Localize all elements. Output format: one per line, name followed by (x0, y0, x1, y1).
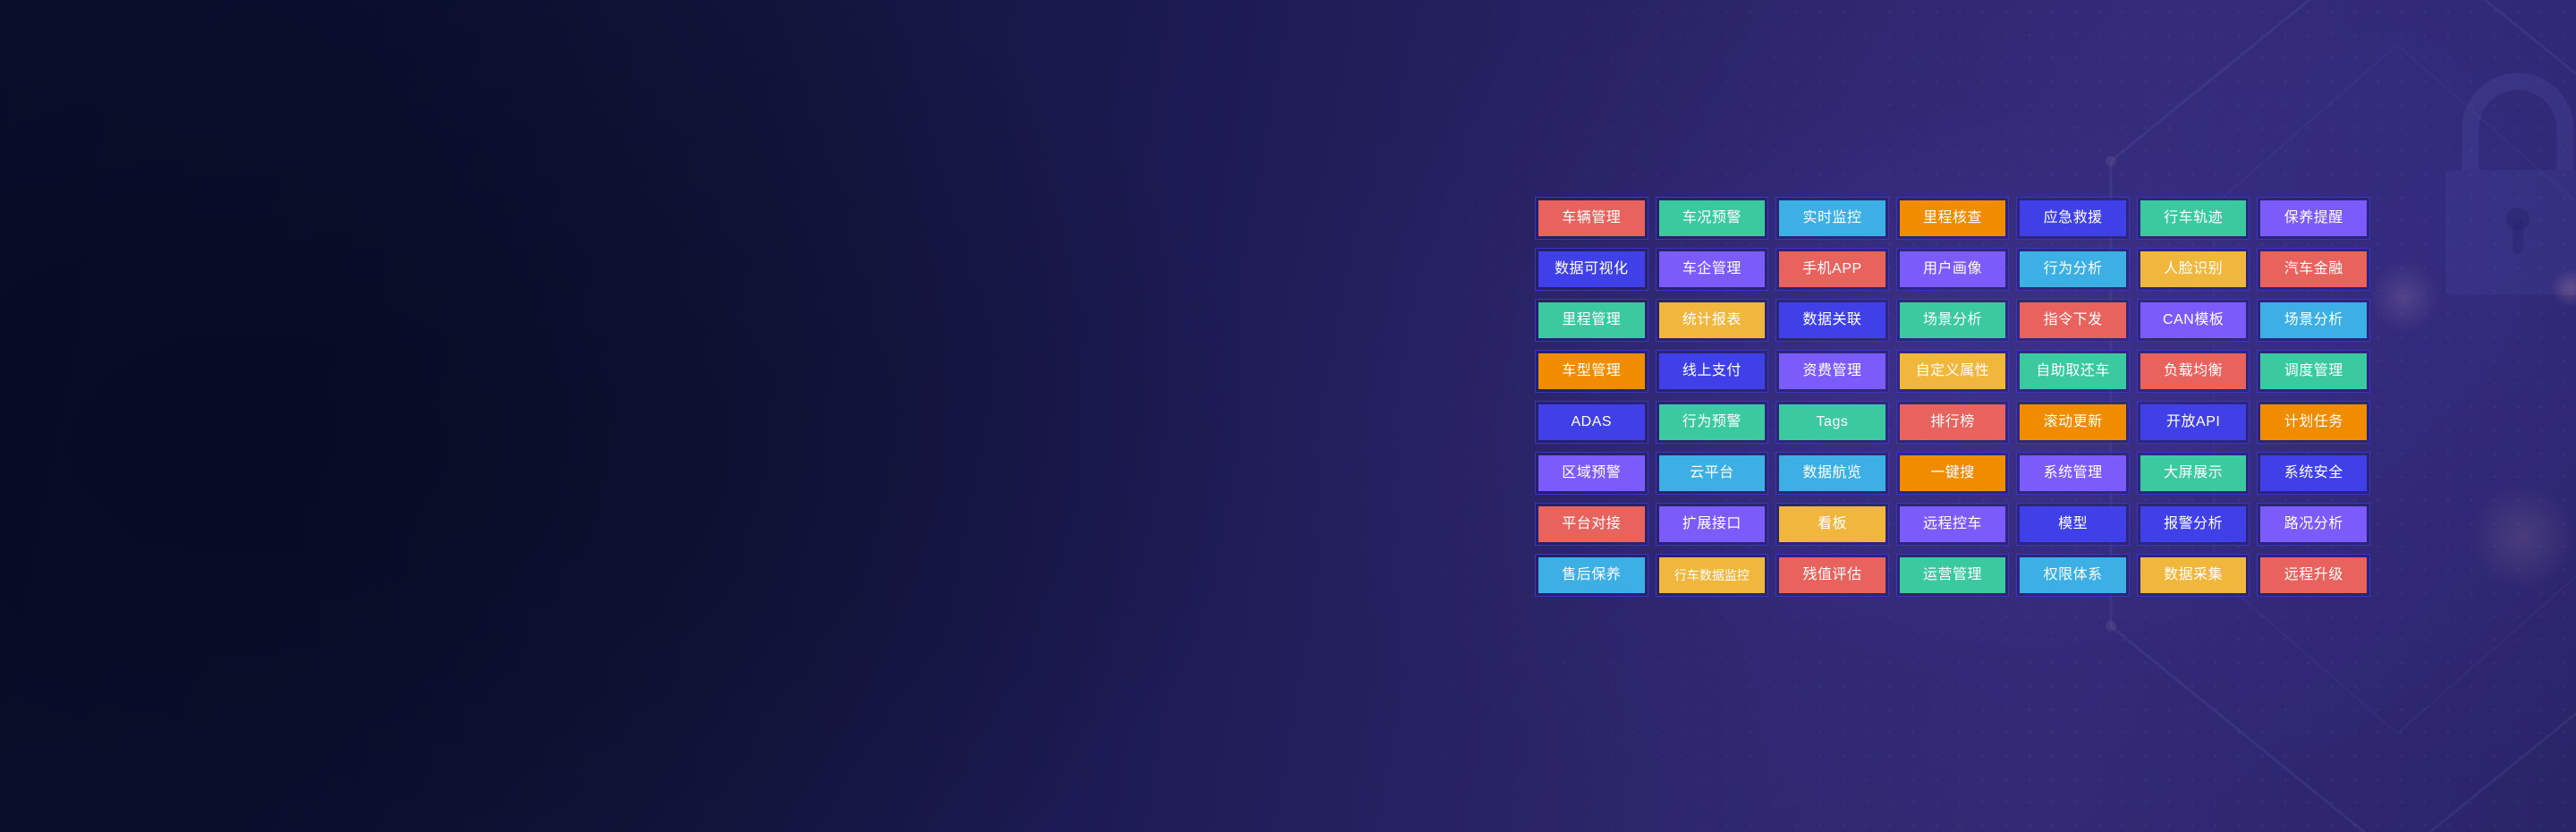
background-glow-dot (2368, 261, 2440, 333)
feature-tile[interactable]: 运营管理 (1900, 557, 2006, 593)
tile-cell[interactable]: 开放API (2137, 401, 2250, 444)
feature-tile[interactable]: 系统管理 (2020, 455, 2126, 491)
tile-row: 数据可视化车企管理手机APP用户画像行为分析人脸识别汽车金融 (1535, 248, 2370, 291)
tile-cell[interactable]: 调度管理 (2257, 350, 2370, 393)
feature-tile[interactable]: 实时监控 (1779, 200, 1885, 236)
feature-tile[interactable]: 车企管理 (1659, 251, 1766, 287)
feature-tile[interactable]: 车辆管理 (1538, 200, 1645, 236)
feature-tile[interactable]: 开放API (2140, 404, 2247, 440)
tile-cell[interactable]: 残值评估 (1775, 554, 1889, 597)
tile-row: 区域预警云平台数据航览一键搜系统管理大屏展示系统安全 (1535, 452, 2370, 495)
tile-cell[interactable]: 行车轨迹 (2137, 197, 2250, 240)
tile-cell[interactable]: 扩展接口 (1656, 503, 1769, 546)
tile-row: 售后保养行车数据监控残值评估运营管理权限体系数据采集远程升级 (1535, 554, 2370, 597)
feature-tile[interactable]: 车况预警 (1659, 200, 1766, 236)
feature-tile[interactable]: ADAS (1538, 404, 1645, 440)
tile-cell[interactable]: 指令下发 (2016, 299, 2130, 342)
feature-tile[interactable]: 排行榜 (1900, 404, 2006, 440)
tile-cell[interactable]: 排行榜 (1896, 401, 2010, 444)
feature-tile[interactable]: 负载均衡 (2140, 353, 2247, 389)
feature-tile[interactable]: 残值评估 (1779, 557, 1885, 593)
feature-tile[interactable]: 滚动更新 (2020, 404, 2126, 440)
tile-cell[interactable]: 汽车金融 (2257, 248, 2370, 291)
feature-tile[interactable]: 区域预警 (1538, 455, 1645, 491)
background-glow-dot (2469, 483, 2576, 590)
feature-tile[interactable]: 行车数据监控 (1659, 557, 1766, 593)
feature-tile[interactable]: 计划任务 (2260, 404, 2367, 440)
feature-tile[interactable]: 场景分析 (2260, 302, 2367, 338)
feature-tile[interactable]: 里程管理 (1538, 302, 1645, 338)
feature-tile[interactable]: 自定义属性 (1900, 353, 2006, 389)
feature-tile[interactable]: 手机APP (1779, 251, 1885, 287)
tile-cell[interactable]: 实时监控 (1775, 197, 1889, 240)
feature-tile[interactable]: 行车轨迹 (2140, 200, 2247, 236)
feature-tile[interactable]: 平台对接 (1538, 506, 1645, 542)
feature-tile[interactable]: 远程升级 (2260, 557, 2367, 593)
feature-tile[interactable]: 线上支付 (1659, 353, 1766, 389)
tile-row: 平台对接扩展接口看板远程控车模型报警分析路况分析 (1535, 503, 2370, 546)
feature-tile[interactable]: 调度管理 (2260, 353, 2367, 389)
tile-cell[interactable]: 云平台 (1656, 452, 1769, 495)
tile-cell[interactable]: 系统管理 (2016, 452, 2130, 495)
tile-row: 里程管理统计报表数据关联场景分析指令下发CAN模板场景分析 (1535, 299, 2370, 342)
tile-cell[interactable]: 人脸识别 (2137, 248, 2250, 291)
feature-tile[interactable]: 系统安全 (2260, 455, 2367, 491)
tile-cell[interactable]: Tags (1775, 401, 1889, 444)
feature-tile[interactable]: 应急救援 (2020, 200, 2126, 236)
feature-tile[interactable]: 保养提醒 (2260, 200, 2367, 236)
tile-cell[interactable]: 平台对接 (1535, 503, 1648, 546)
tile-cell[interactable]: 一键搜 (1896, 452, 2010, 495)
tile-cell[interactable]: 负载均衡 (2137, 350, 2250, 393)
feature-tile[interactable]: 远程控车 (1900, 506, 2006, 542)
feature-tile[interactable]: 车型管理 (1538, 353, 1645, 389)
feature-tile[interactable]: 数据关联 (1779, 302, 1885, 338)
tile-cell[interactable]: 用户画像 (1896, 248, 2010, 291)
tile-cell[interactable]: 里程核查 (1896, 197, 2010, 240)
feature-tile[interactable]: 看板 (1779, 506, 1885, 542)
feature-tile[interactable]: 大屏展示 (2140, 455, 2247, 491)
tile-cell[interactable]: 计划任务 (2257, 401, 2370, 444)
tile-cell[interactable]: 售后保养 (1535, 554, 1648, 597)
tile-cell[interactable]: 远程控车 (1896, 503, 2010, 546)
tile-row: 车辆管理车况预警实时监控里程核查应急救援行车轨迹保养提醒 (1535, 197, 2370, 240)
feature-tile[interactable]: 人脸识别 (2140, 251, 2247, 287)
tile-cell[interactable]: 场景分析 (1896, 299, 2010, 342)
tile-cell[interactable]: 大屏展示 (2137, 452, 2250, 495)
feature-tile[interactable]: Tags (1779, 404, 1885, 440)
tile-cell[interactable]: 滚动更新 (2016, 401, 2130, 444)
tile-cell[interactable]: 资费管理 (1775, 350, 1889, 393)
feature-tile[interactable]: 行为分析 (2020, 251, 2126, 287)
feature-tile[interactable]: 场景分析 (1900, 302, 2006, 338)
tile-cell[interactable]: 统计报表 (1656, 299, 1769, 342)
tile-cell[interactable]: 应急救援 (2016, 197, 2130, 240)
tile-cell[interactable]: 路况分析 (2257, 503, 2370, 546)
tile-cell[interactable]: CAN模板 (2137, 299, 2250, 342)
feature-tile[interactable]: 模型 (2020, 506, 2126, 542)
tile-cell[interactable]: 系统安全 (2257, 452, 2370, 495)
feature-tile[interactable]: 数据采集 (2140, 557, 2247, 593)
tile-cell[interactable]: 运营管理 (1896, 554, 2010, 597)
tile-cell[interactable]: 线上支付 (1656, 350, 1769, 393)
tile-cell[interactable]: 场景分析 (2257, 299, 2370, 342)
feature-tile[interactable]: 权限体系 (2020, 557, 2126, 593)
tile-cell[interactable]: ADAS (1535, 401, 1648, 444)
tile-cell[interactable]: 车企管理 (1656, 248, 1769, 291)
feature-tile[interactable]: 数据可视化 (1538, 251, 1645, 287)
tile-cell[interactable]: 里程管理 (1535, 299, 1648, 342)
tile-cell[interactable]: 自定义属性 (1896, 350, 2010, 393)
tile-cell[interactable]: 模型 (2016, 503, 2130, 546)
tile-row: ADAS行为预警Tags排行榜滚动更新开放API计划任务 (1535, 401, 2370, 444)
feature-tile[interactable]: 扩展接口 (1659, 506, 1766, 542)
feature-tile[interactable]: 资费管理 (1779, 353, 1885, 389)
tile-cell[interactable]: 远程升级 (2257, 554, 2370, 597)
tile-cell[interactable]: 车况预警 (1656, 197, 1769, 240)
feature-tile-grid: 车辆管理车况预警实时监控里程核查应急救援行车轨迹保养提醒数据可视化车企管理手机A… (1535, 190, 2370, 606)
tile-cell[interactable]: 行车数据监控 (1656, 554, 1769, 597)
tile-cell[interactable]: 自助取还车 (2016, 350, 2130, 393)
feature-tile[interactable]: 路况分析 (2260, 506, 2367, 542)
feature-tile[interactable]: 自助取还车 (2020, 353, 2126, 389)
tile-row: 车型管理线上支付资费管理自定义属性自助取还车负载均衡调度管理 (1535, 350, 2370, 393)
feature-tile[interactable]: 一键搜 (1900, 455, 2006, 491)
feature-tile[interactable]: 行为预警 (1659, 404, 1766, 440)
tile-cell[interactable]: 行为预警 (1656, 401, 1769, 444)
screen: 车辆管理车况预警实时监控里程核查应急救援行车轨迹保养提醒数据可视化车企管理手机A… (0, 0, 2576, 832)
feature-tile[interactable]: 统计报表 (1659, 302, 1766, 338)
feature-tile[interactable]: 数据航览 (1779, 455, 1885, 491)
tile-cell[interactable]: 数据关联 (1775, 299, 1889, 342)
tile-cell[interactable]: 车辆管理 (1535, 197, 1648, 240)
feature-tile[interactable]: 云平台 (1659, 455, 1766, 491)
feature-tile[interactable]: 汽车金融 (2260, 251, 2367, 287)
tile-cell[interactable]: 数据可视化 (1535, 248, 1648, 291)
feature-tile[interactable]: 里程核查 (1900, 200, 2006, 236)
tile-cell[interactable]: 手机APP (1775, 248, 1889, 291)
tile-cell[interactable]: 数据采集 (2137, 554, 2250, 597)
tile-cell[interactable]: 数据航览 (1775, 452, 1889, 495)
feature-tile[interactable]: 指令下发 (2020, 302, 2126, 338)
tile-cell[interactable]: 行为分析 (2016, 248, 2130, 291)
feature-tile[interactable]: CAN模板 (2140, 302, 2247, 338)
tile-cell[interactable]: 权限体系 (2016, 554, 2130, 597)
feature-tile[interactable]: 售后保养 (1538, 557, 1645, 593)
tile-cell[interactable]: 车型管理 (1535, 350, 1648, 393)
tile-cell[interactable]: 报警分析 (2137, 503, 2250, 546)
tile-cell[interactable]: 区域预警 (1535, 452, 1648, 495)
tile-cell[interactable]: 看板 (1775, 503, 1889, 546)
tile-cell[interactable]: 保养提醒 (2257, 197, 2370, 240)
feature-tile[interactable]: 报警分析 (2140, 506, 2247, 542)
feature-tile[interactable]: 用户画像 (1900, 251, 2006, 287)
